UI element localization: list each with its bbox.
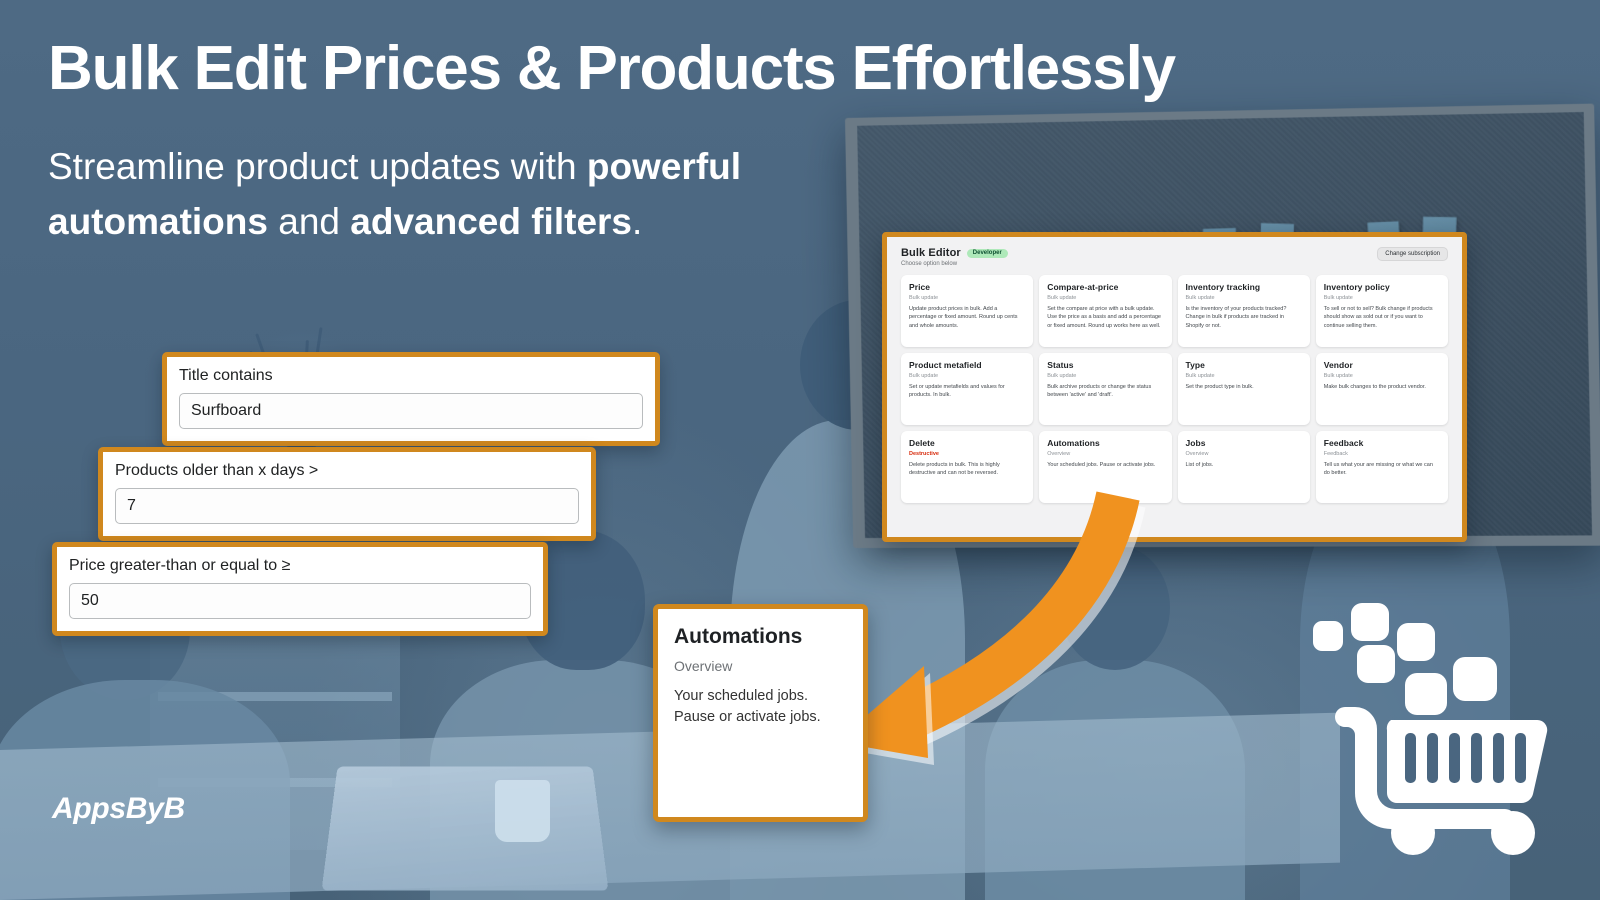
option-card-description: Update product prices in bulk. Add a per… (909, 305, 1025, 330)
option-card[interactable]: VendorBulk updateMake bulk changes to th… (1316, 353, 1448, 425)
option-card-kicker: Destructive (909, 451, 1025, 457)
option-card-title: Compare-at-price (1047, 282, 1163, 292)
option-card-description: Set or update metafields and values for … (909, 383, 1025, 400)
option-card-description: Is the inventory of your products tracke… (1186, 305, 1302, 330)
page-title: Bulk Edit Prices & Products Effortlessly (48, 36, 1348, 102)
option-card-title: Feedback (1324, 438, 1440, 448)
option-card[interactable]: Inventory policyBulk updateTo sell or no… (1316, 275, 1448, 347)
option-card-grid: PriceBulk updateUpdate product prices in… (887, 271, 1462, 513)
subtitle-text: Streamline product updates with (48, 146, 587, 187)
option-card-description: Make bulk changes to the product vendor. (1324, 383, 1440, 391)
filter-value-input[interactable]: 7 (115, 488, 579, 524)
option-card[interactable]: Compare-at-priceBulk updateSet the compa… (1039, 275, 1171, 347)
subtitle-text: and (268, 201, 350, 242)
option-card-kicker: Bulk update (1324, 295, 1440, 301)
option-card-kicker: Feedback (1324, 451, 1440, 457)
option-card-title: Type (1186, 360, 1302, 370)
option-card-description: Set the compare at price with a bulk upd… (1047, 305, 1163, 330)
option-card-kicker: Bulk update (909, 295, 1025, 301)
option-card[interactable]: PriceBulk updateUpdate product prices in… (901, 275, 1033, 347)
option-card-title: Jobs (1186, 438, 1302, 448)
option-card[interactable]: JobsOverviewList of jobs. (1178, 431, 1310, 503)
option-card-kicker: Bulk update (909, 373, 1025, 379)
option-card-title: Automations (1047, 438, 1163, 448)
option-card-kicker: Bulk update (1186, 295, 1302, 301)
filter-label: Price greater-than or equal to ≥ (69, 557, 531, 575)
filter-value-input[interactable]: 50 (69, 583, 531, 619)
shopping-cart-icon (1305, 595, 1575, 860)
option-card-description: To sell or not to sell? Bulk change if p… (1324, 305, 1440, 330)
option-card-title: Inventory tracking (1186, 282, 1302, 292)
mug-prop (495, 780, 550, 842)
option-card-description: Set the product type in bulk. (1186, 383, 1302, 391)
change-subscription-button[interactable]: Change subscription (1377, 247, 1448, 261)
option-card-kicker: Bulk update (1047, 295, 1163, 301)
option-card[interactable]: FeedbackFeedbackTell us what your are mi… (1316, 431, 1448, 503)
option-card-title: Status (1047, 360, 1163, 370)
option-card-title: Product metafield (909, 360, 1025, 370)
filter-label: Products older than x days > (115, 462, 579, 480)
subtitle-emphasis: advanced filters (350, 201, 632, 242)
page-subtitle: Streamline product updates with powerful… (48, 140, 948, 250)
option-card-title: Delete (909, 438, 1025, 448)
option-card[interactable]: StatusBulk updateBulk archive products o… (1039, 353, 1171, 425)
filter-value-input[interactable]: Surfboard (179, 393, 643, 429)
panel-title-group: Bulk Editor Developer Choose option belo… (901, 247, 1008, 267)
option-card-kicker: Bulk update (1186, 373, 1302, 379)
option-card-description: List of jobs. (1186, 461, 1302, 469)
panel-subtitle: Choose option below (901, 261, 1008, 267)
callout-description: Your scheduled jobs. Pause or activate j… (674, 686, 847, 727)
option-card[interactable]: Product metafieldBulk updateSet or updat… (901, 353, 1033, 425)
automations-callout-card[interactable]: Automations Overview Your scheduled jobs… (653, 604, 868, 822)
callout-title: Automations (674, 625, 847, 649)
option-card-title: Inventory policy (1324, 282, 1440, 292)
filter-card-title-contains[interactable]: Title contains Surfboard (162, 352, 660, 446)
panel-header: Bulk Editor Developer Choose option belo… (887, 237, 1462, 271)
option-card-title: Vendor (1324, 360, 1440, 370)
filter-card-older-than-days[interactable]: Products older than x days > 7 (98, 447, 596, 541)
plan-badge: Developer (967, 249, 1008, 258)
option-card[interactable]: Inventory trackingBulk updateIs the inve… (1178, 275, 1310, 347)
laptop-prop (322, 767, 609, 891)
filter-label: Title contains (179, 367, 643, 385)
option-card-kicker: Bulk update (1324, 373, 1440, 379)
option-card[interactable]: TypeBulk updateSet the product type in b… (1178, 353, 1310, 425)
option-card-kicker: Overview (1047, 451, 1163, 457)
subtitle-text: . (632, 201, 642, 242)
option-card-description: Tell us what your are missing or what we… (1324, 461, 1440, 478)
option-card-description: Bulk archive products or change the stat… (1047, 383, 1163, 400)
callout-kicker: Overview (674, 658, 847, 674)
filter-card-price-gte[interactable]: Price greater-than or equal to ≥ 50 (52, 542, 548, 636)
option-card-title: Price (909, 282, 1025, 292)
option-card-description: Delete products in bulk. This is highly … (909, 461, 1025, 478)
brand-logo: AppsByB (52, 792, 185, 826)
panel-title: Bulk Editor (901, 247, 961, 259)
option-card-kicker: Overview (1186, 451, 1302, 457)
option-card-description: Your scheduled jobs. Pause or activate j… (1047, 461, 1163, 469)
option-card-kicker: Bulk update (1047, 373, 1163, 379)
promo-banner: Bulk Edit Prices & Products Effortlessly… (0, 0, 1600, 900)
